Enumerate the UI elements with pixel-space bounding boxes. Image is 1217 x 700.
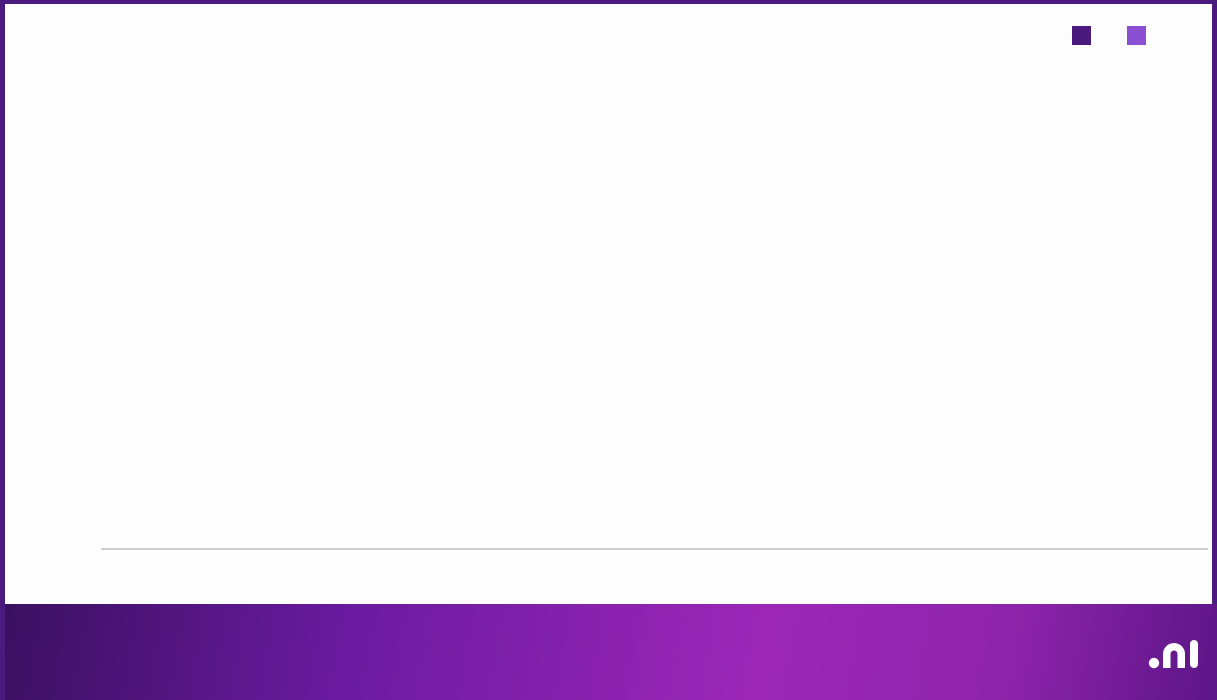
legend-item-rechargeable[interactable] [1127,26,1156,45]
chart-plot-area [5,112,1217,604]
market-infographic [0,0,1217,700]
chart-header [5,4,1212,112]
market-us-bars-icon [1147,632,1203,672]
square-swatch-icon [1072,26,1091,45]
x-axis-baseline [101,548,1208,550]
y-axis [5,112,95,548]
brand-logo[interactable] [1147,632,1212,672]
chart-legend [1072,26,1156,45]
square-swatch-icon [1127,26,1146,45]
summary-banner [5,604,1217,700]
x-axis [101,558,1204,594]
bar-series-container [101,112,1204,548]
legend-item-battery-powered[interactable] [1072,26,1101,45]
